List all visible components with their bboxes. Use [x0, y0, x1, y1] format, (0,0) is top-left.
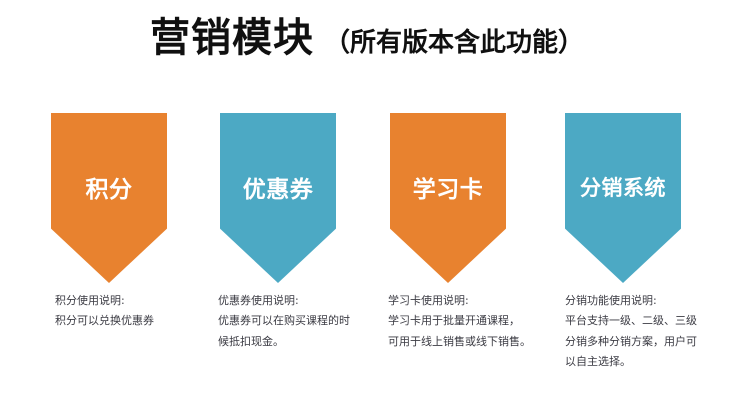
description-title-study-card: 学习卡使用说明: — [388, 291, 548, 311]
banner-shape-points: 积分 — [51, 113, 167, 283]
description-title-coupon: 优惠券使用说明: — [218, 291, 373, 311]
description-points: 积分使用说明: 积分可以兑换优惠券 — [55, 291, 205, 332]
page-title-main: 营销模块 — [150, 18, 314, 58]
description-line: 候抵扣现金。 — [218, 332, 373, 352]
description-line: 平台支持一级、二级、三级 — [565, 311, 723, 331]
description-line: 可用于线上销售或线下销售。 — [388, 332, 548, 352]
banner-shape-distribution: 分销系统 — [565, 113, 681, 283]
description-line: 以自主选择。 — [565, 352, 723, 372]
description-title-points: 积分使用说明: — [55, 291, 205, 311]
banner-label-distribution: 分销系统 — [580, 172, 666, 202]
page-title: 营销模块 （所有版本含此功能） — [150, 18, 584, 58]
description-line: 优惠券可以在购买课程的时 — [218, 311, 373, 331]
description-distribution: 分销功能使用说明: 平台支持一级、二级、三级 分销多种分销方案，用户可 以自主选… — [565, 291, 723, 372]
banner-shape-coupon: 优惠券 — [220, 113, 336, 283]
description-title-distribution: 分销功能使用说明: — [565, 291, 723, 311]
description-line: 积分可以兑换优惠券 — [55, 311, 205, 331]
description-coupon: 优惠券使用说明: 优惠券可以在购买课程的时 候抵扣现金。 — [218, 291, 373, 352]
banner-label-study-card: 学习卡 — [413, 170, 484, 204]
description-line: 分销多种分销方案，用户可 — [565, 332, 723, 352]
banner-label-coupon: 优惠券 — [243, 170, 314, 204]
slide-canvas: 营销模块 （所有版本含此功能） 积分 优惠券 学习卡 分销系统 积分使用说明: … — [0, 0, 750, 403]
page-title-subtitle: （所有版本含此功能） — [324, 29, 584, 55]
description-line: 学习卡用于批量开通课程， — [388, 311, 548, 331]
banner-shape-study-card: 学习卡 — [390, 113, 506, 283]
description-study-card: 学习卡使用说明: 学习卡用于批量开通课程， 可用于线上销售或线下销售。 — [388, 291, 548, 352]
banner-label-points: 积分 — [86, 170, 133, 204]
